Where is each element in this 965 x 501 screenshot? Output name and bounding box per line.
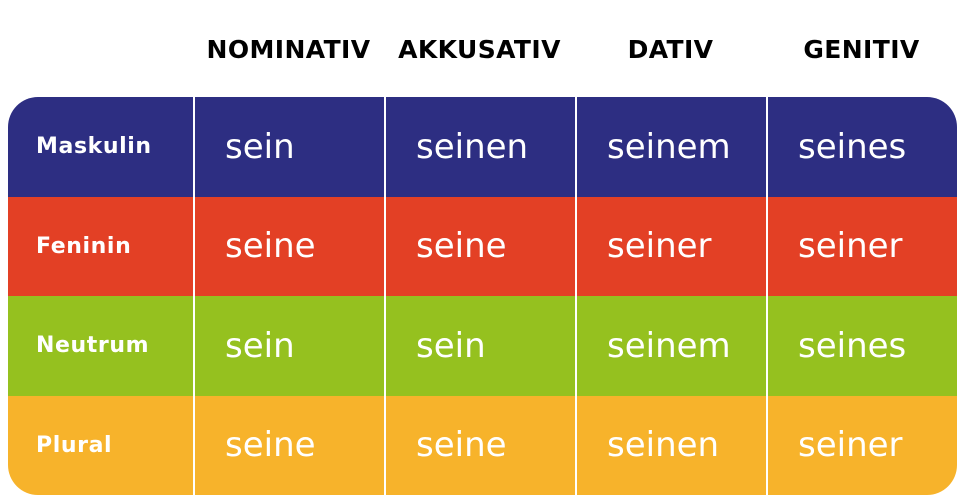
row-label-maskulin: Maskulin — [8, 97, 193, 197]
cell-plural-nominativ: seine — [193, 396, 384, 496]
cell-maskulin-akkusativ: seinen — [384, 97, 575, 197]
table-row-maskulin: Maskulin sein seinen seinem seines — [8, 97, 957, 197]
case-header-genitiv: GENITIV — [766, 35, 957, 64]
cell-feninin-nominativ: seine — [193, 197, 384, 297]
cell-maskulin-genitiv: seines — [766, 97, 957, 197]
case-header-akkusativ: AKKUSATIV — [384, 35, 575, 64]
cell-feninin-dativ: seiner — [575, 197, 766, 297]
cell-plural-genitiv: seiner — [766, 396, 957, 496]
table-row-neutrum: Neutrum sein sein seinem seines — [8, 296, 957, 396]
case-header-dativ: DATIV — [575, 35, 766, 64]
case-header-row: NOMINATIV AKKUSATIV DATIV GENITIV — [8, 20, 957, 78]
cell-feninin-genitiv: seiner — [766, 197, 957, 297]
cell-plural-akkusativ: seine — [384, 396, 575, 496]
cell-maskulin-nominativ: sein — [193, 97, 384, 197]
table-row-plural: Plural seine seine seinen seiner — [8, 396, 957, 496]
declension-table: Maskulin sein seinen seinem seines Fenin… — [8, 97, 957, 495]
table-row-feninin: Feninin seine seine seiner seiner — [8, 197, 957, 297]
cell-plural-dativ: seinen — [575, 396, 766, 496]
cell-maskulin-dativ: seinem — [575, 97, 766, 197]
row-label-plural: Plural — [8, 396, 193, 496]
case-header-nominativ: NOMINATIV — [193, 35, 384, 64]
cell-neutrum-akkusativ: sein — [384, 296, 575, 396]
cell-neutrum-dativ: seinem — [575, 296, 766, 396]
possessive-declension-sheet: NOMINATIV AKKUSATIV DATIV GENITIV Maskul… — [0, 0, 965, 501]
row-label-feninin: Feninin — [8, 197, 193, 297]
row-label-neutrum: Neutrum — [8, 296, 193, 396]
cell-feninin-akkusativ: seine — [384, 197, 575, 297]
cell-neutrum-nominativ: sein — [193, 296, 384, 396]
cell-neutrum-genitiv: seines — [766, 296, 957, 396]
